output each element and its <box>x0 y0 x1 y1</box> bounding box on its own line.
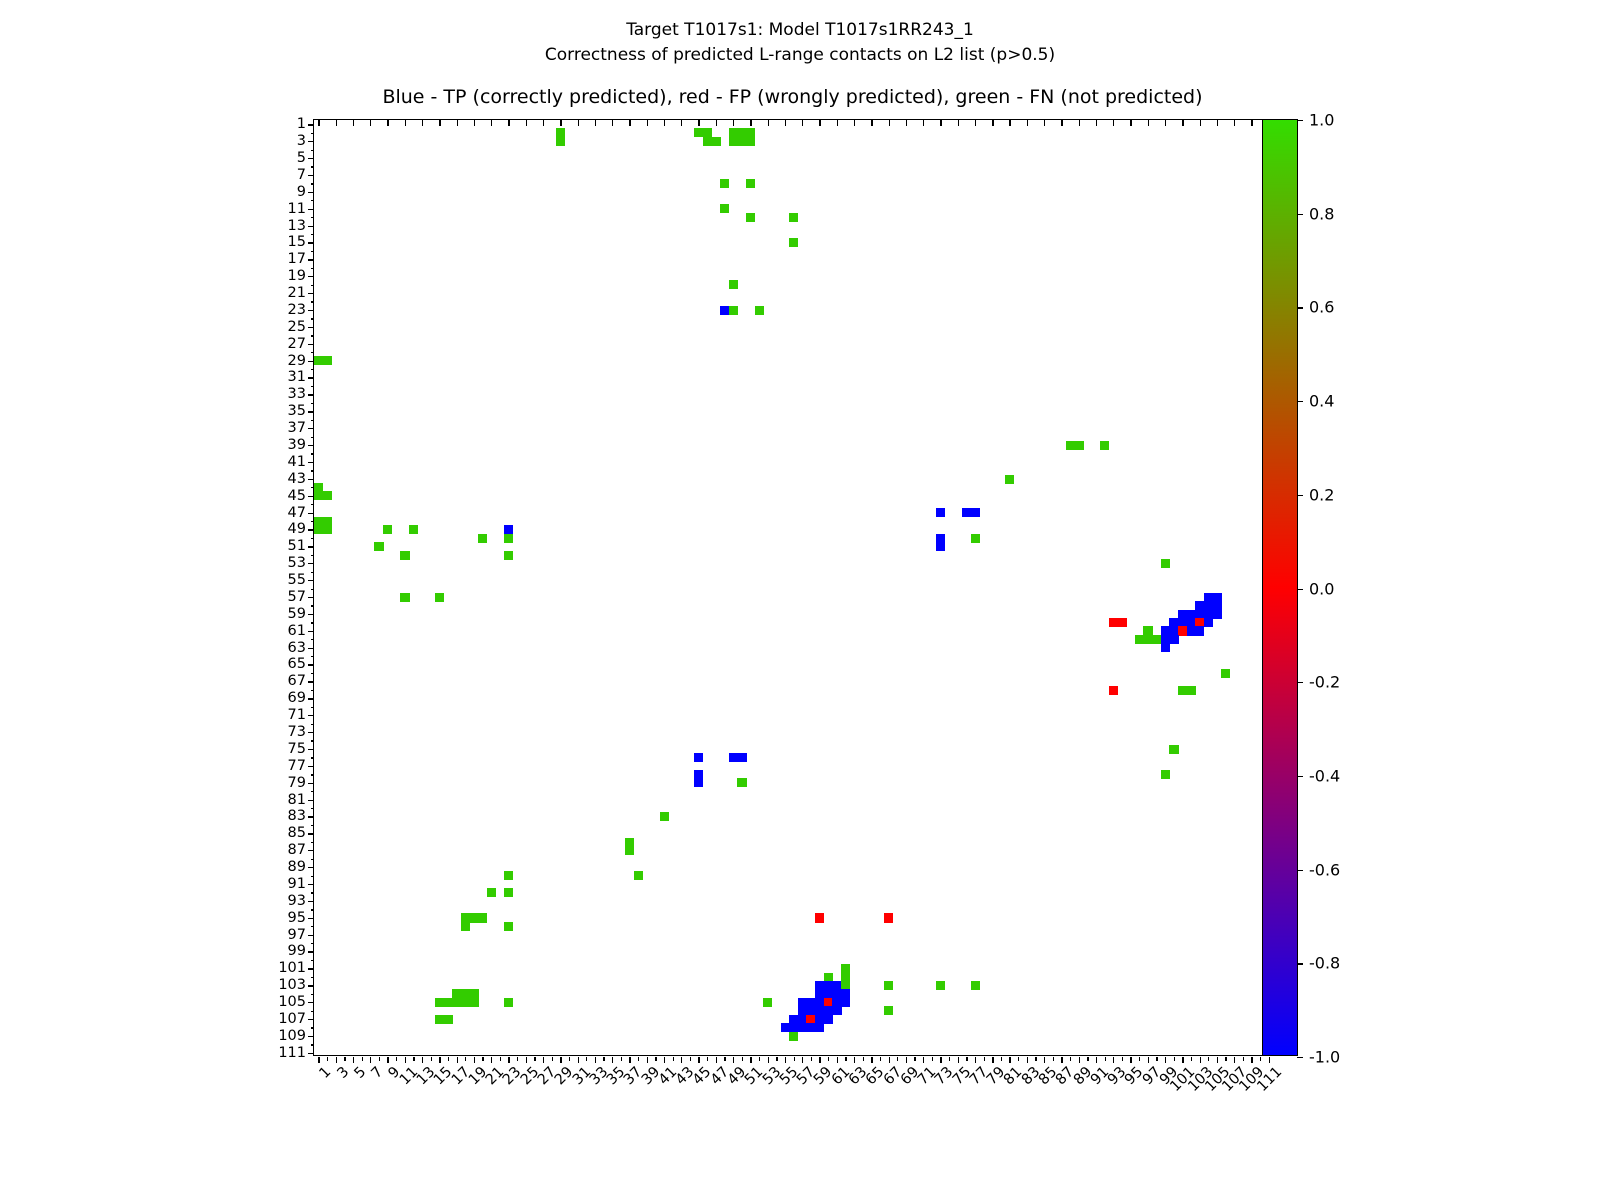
x-tick-top <box>958 120 959 126</box>
x-tick-minor <box>1122 1057 1123 1061</box>
x-tick-top <box>508 120 509 126</box>
y-tick-major <box>308 529 314 530</box>
matrix-cell <box>763 998 772 1007</box>
y-tick-label: 73 <box>288 724 306 740</box>
x-tick-major <box>508 1057 509 1063</box>
y-tick-label: 23 <box>288 302 306 318</box>
x-tick-major <box>698 1057 699 1063</box>
y-tick-major <box>308 580 314 581</box>
x-tick-major <box>474 1057 475 1063</box>
y-tick-major <box>308 985 314 986</box>
y-tick-major <box>308 496 314 497</box>
x-tick-major <box>802 1057 803 1063</box>
x-tick-top <box>474 120 475 126</box>
x-tick-top <box>353 120 354 126</box>
x-tick-top <box>819 120 820 126</box>
y-tick-major <box>308 293 314 294</box>
x-tick-major <box>336 1057 337 1063</box>
y-tick-major <box>308 901 314 902</box>
x-tick-top <box>457 120 458 126</box>
y-tick-major <box>308 664 314 665</box>
x-tick-major <box>1130 1057 1131 1063</box>
matrix-cell <box>884 913 893 922</box>
x-tick-label: 7 <box>369 1064 387 1082</box>
y-tick-major <box>308 681 314 682</box>
matrix-cell <box>323 356 332 365</box>
y-tick-major <box>308 816 314 817</box>
y-tick-label: 91 <box>288 876 306 892</box>
x-tick-minor <box>1225 1057 1226 1061</box>
matrix-cell <box>789 238 798 247</box>
y-tick-label: 103 <box>278 977 306 993</box>
matrix-cell <box>1195 626 1204 635</box>
suptitle-line-1: Target T1017s1: Model T1017s1RR243_1 <box>0 18 1600 43</box>
x-tick-minor <box>534 1057 535 1061</box>
x-tick-minor <box>949 1057 950 1061</box>
colorbar: 1.00.80.60.40.20.0-0.2-0.4-0.6-0.8-1.0 <box>1262 119 1298 1056</box>
y-tick-minor <box>311 876 315 877</box>
x-tick-label: 3 <box>334 1064 352 1082</box>
x-tick-major <box>906 1057 907 1063</box>
y-tick-label: 89 <box>288 859 306 875</box>
y-tick-minor <box>311 740 315 741</box>
y-tick-major <box>308 226 314 227</box>
colorbar-tick-label: -0.6 <box>1309 860 1340 879</box>
x-tick-major <box>1044 1057 1045 1063</box>
x-tick-major <box>629 1057 630 1063</box>
x-tick-top <box>595 120 596 126</box>
x-tick-minor <box>517 1057 518 1061</box>
y-tick-major <box>308 884 314 885</box>
x-tick-top <box>1044 120 1045 126</box>
x-tick-minor <box>1139 1057 1140 1061</box>
y-tick-major <box>308 327 314 328</box>
y-tick-minor <box>311 589 315 590</box>
y-tick-minor <box>311 1011 315 1012</box>
x-tick-top <box>526 120 527 126</box>
x-tick-minor <box>707 1057 708 1061</box>
y-tick-label: 79 <box>288 775 306 791</box>
y-tick-major <box>308 800 314 801</box>
x-tick-minor <box>448 1057 449 1061</box>
matrix-cell <box>720 204 729 213</box>
y-tick-minor <box>311 369 315 370</box>
y-tick-minor <box>311 352 315 353</box>
matrix-cell <box>729 306 738 315</box>
y-tick-label: 45 <box>288 488 306 504</box>
x-tick-minor <box>638 1057 639 1061</box>
y-tick-minor <box>311 994 315 995</box>
x-tick-top <box>405 120 406 126</box>
x-tick-major <box>647 1057 648 1063</box>
y-tick-label: 85 <box>288 825 306 841</box>
y-tick-label: 27 <box>288 336 306 352</box>
colorbar-tick <box>1297 495 1303 496</box>
y-tick-minor <box>311 859 315 860</box>
matrix-cell <box>746 179 755 188</box>
y-tick-major <box>308 867 314 868</box>
y-tick-minor <box>311 318 315 319</box>
matrix-cell <box>504 534 513 543</box>
y-tick-major <box>308 833 314 834</box>
figure-suptitle: Target T1017s1: Model T1017s1RR243_1 Cor… <box>0 18 1600 68</box>
x-tick-major <box>871 1057 872 1063</box>
x-tick-top <box>1251 120 1252 126</box>
x-tick-major <box>1234 1057 1235 1063</box>
y-tick-minor <box>311 437 315 438</box>
matrix-cell <box>815 1023 824 1032</box>
y-tick-label: 41 <box>288 454 306 470</box>
y-tick-minor <box>311 656 315 657</box>
x-tick-minor <box>413 1057 414 1061</box>
x-tick-major <box>923 1057 924 1063</box>
y-tick-major <box>308 648 314 649</box>
matrix-cell <box>323 525 332 534</box>
y-tick-minor <box>311 453 315 454</box>
matrix-cell <box>1117 618 1126 627</box>
y-tick-major <box>308 597 314 598</box>
x-tick-minor <box>828 1057 829 1061</box>
x-tick-minor <box>552 1057 553 1061</box>
y-tick-label: 99 <box>288 943 306 959</box>
matrix-cell <box>1169 635 1178 644</box>
x-tick-major <box>819 1057 820 1063</box>
x-tick-major <box>768 1057 769 1063</box>
colorbar-tick <box>1297 120 1303 121</box>
y-tick-minor <box>311 133 315 134</box>
y-tick-label: 9 <box>297 184 306 200</box>
x-tick-major <box>612 1057 613 1063</box>
x-tick-label: 5 <box>351 1064 369 1082</box>
y-tick-label: 29 <box>288 353 306 369</box>
matrix-cell <box>400 551 409 560</box>
matrix-cell <box>478 913 487 922</box>
colorbar-tick <box>1297 589 1303 590</box>
y-tick-minor <box>311 487 315 488</box>
x-tick-major <box>1061 1057 1062 1063</box>
x-tick-major <box>526 1057 527 1063</box>
y-tick-major <box>308 361 314 362</box>
x-tick-top <box>854 120 855 126</box>
x-tick-major <box>439 1057 440 1063</box>
matrix-cell <box>374 542 383 551</box>
matrix-cell <box>1169 745 1178 754</box>
y-tick-major <box>308 445 314 446</box>
matrix-cell <box>1213 610 1222 619</box>
y-tick-major <box>308 918 314 919</box>
y-tick-major <box>308 394 314 395</box>
x-tick-top <box>733 120 734 126</box>
y-tick-label: 11 <box>288 201 306 217</box>
matrix-cell <box>694 778 703 787</box>
x-tick-top <box>664 120 665 126</box>
x-tick-minor <box>396 1057 397 1061</box>
x-tick-major <box>1217 1057 1218 1063</box>
matrix-cell <box>504 998 513 1007</box>
y-tick-label: 97 <box>288 927 306 943</box>
x-tick-minor <box>914 1057 915 1061</box>
matrix-cell <box>1221 669 1230 678</box>
y-tick-minor <box>311 842 315 843</box>
y-tick-minor <box>311 808 315 809</box>
y-tick-label: 61 <box>288 623 306 639</box>
matrix-cell <box>478 534 487 543</box>
y-tick-major <box>308 783 314 784</box>
x-tick-minor <box>327 1057 328 1061</box>
x-tick-minor <box>1053 1057 1054 1061</box>
x-tick-minor <box>344 1057 345 1061</box>
matrix-cell <box>504 551 513 560</box>
x-tick-minor <box>863 1057 864 1061</box>
x-tick-minor <box>724 1057 725 1061</box>
matrix-cell <box>1109 686 1118 695</box>
x-tick-major <box>1182 1057 1183 1063</box>
x-tick-major <box>457 1057 458 1063</box>
y-tick-minor <box>311 335 315 336</box>
y-tick-minor <box>311 1044 315 1045</box>
y-tick-major <box>308 935 314 936</box>
y-tick-minor <box>311 538 315 539</box>
y-tick-label: 3 <box>297 133 306 149</box>
colorbar-tick <box>1297 682 1303 683</box>
matrix-cell <box>824 1015 833 1024</box>
matrix-cell <box>504 871 513 880</box>
y-tick-minor <box>311 251 315 252</box>
y-tick-label: 51 <box>288 538 306 554</box>
x-tick-major <box>560 1057 561 1063</box>
y-tick-label: 59 <box>288 606 306 622</box>
y-tick-label: 31 <box>288 369 306 385</box>
x-tick-top <box>543 120 544 126</box>
x-tick-minor <box>1087 1057 1088 1061</box>
x-tick-minor <box>1208 1057 1209 1061</box>
axes-title-legend: Blue - TP (correctly predicted), red - F… <box>313 86 1272 108</box>
matrix-cell <box>729 280 738 289</box>
x-tick-top <box>1200 120 1201 126</box>
y-tick-major <box>308 614 314 615</box>
x-tick-top <box>1079 120 1080 126</box>
y-tick-label: 83 <box>288 808 306 824</box>
y-tick-major <box>308 276 314 277</box>
suptitle-line-2: Correctness of predicted L-range contact… <box>0 43 1600 68</box>
y-tick-major <box>308 631 314 632</box>
matrix-cell <box>971 534 980 543</box>
x-tick-minor <box>1018 1057 1019 1061</box>
matrix-cell <box>400 593 409 602</box>
matrix-cell <box>789 213 798 222</box>
y-tick-label: 71 <box>288 707 306 723</box>
x-tick-top <box>578 120 579 126</box>
x-tick-major <box>664 1057 665 1063</box>
y-tick-minor <box>311 909 315 910</box>
y-tick-minor <box>311 943 315 944</box>
matrix-cell <box>720 179 729 188</box>
colorbar-tick <box>1297 214 1303 215</box>
y-tick-major <box>308 124 314 125</box>
y-tick-label: 33 <box>288 386 306 402</box>
colorbar-tick-label: 0.2 <box>1309 485 1334 504</box>
x-tick-major <box>1079 1057 1080 1063</box>
y-tick-label: 81 <box>288 792 306 808</box>
x-tick-top <box>491 120 492 126</box>
y-tick-label: 5 <box>297 150 306 166</box>
x-tick-major <box>353 1057 354 1063</box>
x-tick-minor <box>379 1057 380 1061</box>
y-tick-label: 21 <box>288 285 306 301</box>
matrix-cell <box>1204 618 1213 627</box>
x-tick-minor <box>742 1057 743 1061</box>
x-tick-minor <box>673 1057 674 1061</box>
colorbar-tick-label: 1.0 <box>1309 111 1334 130</box>
y-tick-major <box>308 1019 314 1020</box>
x-tick-top <box>560 120 561 126</box>
x-tick-major <box>491 1057 492 1063</box>
y-tick-label: 19 <box>288 268 306 284</box>
x-tick-major <box>958 1057 959 1063</box>
x-tick-minor <box>1156 1057 1157 1061</box>
y-tick-major <box>308 698 314 699</box>
y-tick-label: 87 <box>288 842 306 858</box>
matrix-cell <box>746 137 755 146</box>
y-tick-label: 63 <box>288 640 306 656</box>
y-tick-major <box>308 344 314 345</box>
y-tick-major <box>308 411 314 412</box>
x-tick-label: 1 <box>317 1064 335 1082</box>
y-tick-minor <box>311 183 315 184</box>
y-tick-major <box>308 1002 314 1003</box>
y-tick-minor <box>311 774 315 775</box>
y-tick-minor <box>311 825 315 826</box>
y-tick-major <box>308 242 314 243</box>
x-tick-minor <box>897 1057 898 1061</box>
matrix-cell <box>435 593 444 602</box>
x-tick-major <box>975 1057 976 1063</box>
x-tick-minor <box>1001 1057 1002 1061</box>
y-tick-major <box>308 259 314 260</box>
y-tick-label: 17 <box>288 251 306 267</box>
y-tick-minor <box>311 605 315 606</box>
x-tick-top <box>318 120 319 126</box>
y-tick-major <box>308 310 314 311</box>
y-tick-label: 67 <box>288 673 306 689</box>
y-tick-major <box>308 715 314 716</box>
y-tick-minor <box>311 555 315 556</box>
x-tick-top <box>1234 120 1235 126</box>
matrix-cell <box>1161 643 1170 652</box>
y-tick-minor <box>311 285 315 286</box>
matrix-cell <box>884 981 893 990</box>
y-tick-minor <box>311 673 315 674</box>
y-tick-label: 77 <box>288 758 306 774</box>
x-tick-minor <box>482 1057 483 1061</box>
x-tick-top <box>422 120 423 126</box>
x-tick-minor <box>655 1057 656 1061</box>
x-tick-minor <box>984 1057 985 1061</box>
y-tick-label: 53 <box>288 555 306 571</box>
contact-map-plot-area: 1357911131517192123252729313335373941434… <box>313 119 1272 1056</box>
y-tick-minor <box>311 268 315 269</box>
colorbar-tick-label: 0.0 <box>1309 579 1334 598</box>
y-tick-major <box>308 192 314 193</box>
y-tick-minor <box>311 301 315 302</box>
matrix-cell <box>746 213 755 222</box>
x-tick-minor <box>1070 1057 1071 1061</box>
x-tick-top <box>439 120 440 126</box>
x-tick-major <box>733 1057 734 1063</box>
x-tick-major <box>595 1057 596 1063</box>
matrix-cell <box>444 1015 453 1024</box>
y-tick-major <box>308 141 314 142</box>
x-tick-top <box>1061 120 1062 126</box>
y-tick-major <box>308 563 314 564</box>
x-tick-top <box>1113 120 1114 126</box>
x-tick-minor <box>966 1057 967 1061</box>
x-tick-major <box>681 1057 682 1063</box>
matrix-cell <box>625 846 634 855</box>
y-tick-minor <box>311 572 315 573</box>
colorbar-tick <box>1297 401 1303 402</box>
y-tick-label: 107 <box>278 1011 306 1027</box>
matrix-cell <box>634 871 643 880</box>
colorbar-tick-label: -0.2 <box>1309 673 1340 692</box>
x-tick-minor <box>586 1057 587 1061</box>
y-tick-label: 35 <box>288 403 306 419</box>
x-tick-top <box>647 120 648 126</box>
y-tick-label: 93 <box>288 893 306 909</box>
colorbar-tick-label: -0.8 <box>1309 954 1340 973</box>
x-tick-top <box>768 120 769 126</box>
colorbar-tick <box>1297 963 1303 964</box>
x-tick-major <box>318 1057 319 1063</box>
matrix-cell <box>737 753 746 762</box>
x-tick-major <box>1113 1057 1114 1063</box>
y-tick-minor <box>311 960 315 961</box>
y-tick-label: 37 <box>288 420 306 436</box>
matrix-cell <box>694 753 703 762</box>
colorbar-gradient <box>1263 120 1297 1055</box>
x-tick-top <box>716 120 717 126</box>
x-tick-major <box>940 1057 941 1063</box>
x-tick-top <box>750 120 751 126</box>
x-tick-major <box>992 1057 993 1063</box>
x-tick-top <box>871 120 872 126</box>
matrix-cell <box>1161 559 1170 568</box>
x-tick-minor <box>603 1057 604 1061</box>
x-tick-top <box>681 120 682 126</box>
y-tick-label: 57 <box>288 589 306 605</box>
matrix-cell <box>737 778 746 787</box>
x-tick-major <box>1200 1057 1201 1063</box>
x-tick-major <box>543 1057 544 1063</box>
x-tick-minor <box>845 1057 846 1061</box>
x-tick-top <box>1009 120 1010 126</box>
y-tick-minor <box>311 470 315 471</box>
x-tick-top <box>370 120 371 126</box>
y-tick-label: 39 <box>288 437 306 453</box>
x-tick-major <box>1165 1057 1166 1063</box>
y-tick-label: 101 <box>278 960 306 976</box>
x-tick-major <box>578 1057 579 1063</box>
matrix-cell <box>461 922 470 931</box>
matrix-cell <box>755 306 764 315</box>
x-tick-major <box>405 1057 406 1063</box>
x-tick-top <box>889 120 890 126</box>
colorbar-tick-label: -1.0 <box>1309 1048 1340 1067</box>
x-tick-minor <box>431 1057 432 1061</box>
x-tick-minor <box>465 1057 466 1061</box>
y-tick-major <box>308 462 314 463</box>
y-tick-minor <box>311 386 315 387</box>
